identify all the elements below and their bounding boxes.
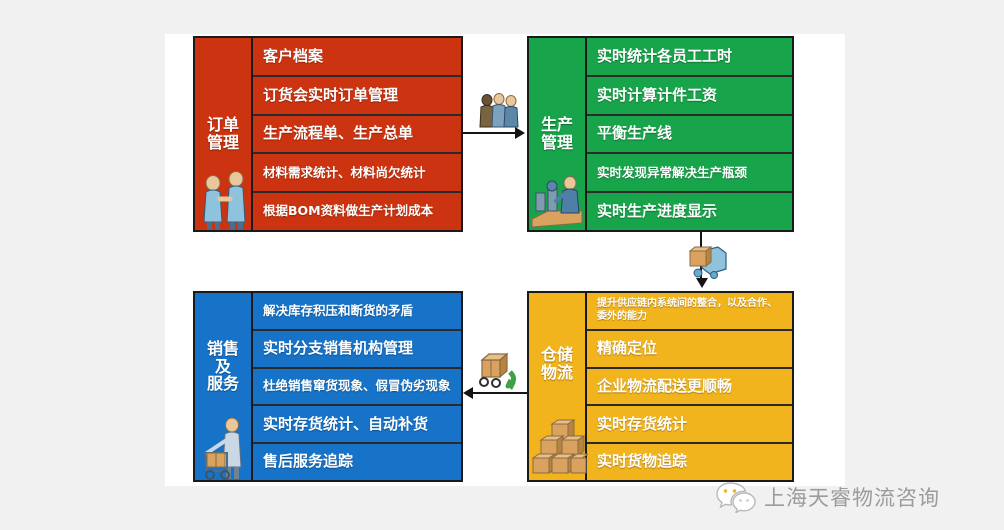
module-row[interactable]: 杜绝销售窜货现象、假冒伪劣现象 bbox=[253, 369, 461, 407]
module-row-text: 材料需求统计、材料尚欠统计 bbox=[263, 166, 426, 180]
module-row[interactable]: 平衡生产线 bbox=[587, 116, 792, 155]
module-row[interactable]: 实时存货统计、自动补货 bbox=[253, 406, 461, 444]
package-recycle-icon bbox=[472, 352, 520, 392]
diagram-canvas: 订单管理 客户档案 订货会实时订单管理 生产流程单、生产总单 材料需求统计、材料… bbox=[0, 0, 1004, 530]
module-row[interactable]: 根据BOM资料做生产计划成本 bbox=[253, 193, 461, 230]
connector-line bbox=[463, 132, 517, 134]
module-label-sales: 销售及服务 bbox=[195, 293, 253, 480]
group-of-people-icon bbox=[477, 92, 525, 130]
watermark-text: 上海天睿物流咨询 bbox=[764, 482, 940, 512]
module-row-text: 实时货物追踪 bbox=[597, 453, 687, 470]
arrow-down-icon bbox=[696, 278, 708, 288]
module-row[interactable]: 客户档案 bbox=[253, 38, 461, 77]
module-row[interactable]: 实时生产进度显示 bbox=[587, 193, 792, 230]
module-row-text: 提升供应链内系统间的整合，以及合作、委外的能力 bbox=[597, 298, 784, 323]
module-row[interactable]: 实时计算计件工资 bbox=[587, 77, 792, 116]
module-label-text-sales: 销售及服务 bbox=[207, 340, 239, 394]
module-warehouse-logistics[interactable]: 仓储物流 bbox=[527, 291, 794, 482]
module-label-production: 生产管理 bbox=[529, 38, 587, 230]
module-rows-production: 实时统计各员工工时 实时计算计件工资 平衡生产线 实时发现异常解决生产瓶颈 实时… bbox=[587, 38, 792, 230]
module-label-text-production: 生产管理 bbox=[541, 116, 573, 152]
module-row[interactable]: 售后服务追踪 bbox=[253, 444, 461, 480]
module-row-text: 实时存货统计、自动补货 bbox=[263, 416, 428, 433]
module-label-text-order: 订单管理 bbox=[207, 116, 239, 152]
module-row[interactable]: 实时分支销售机构管理 bbox=[253, 331, 461, 369]
module-row[interactable]: 实时发现异常解决生产瓶颈 bbox=[587, 154, 792, 193]
module-rows-warehouse: 提升供应链内系统间的整合，以及合作、委外的能力 精确定位 企业物流配送更顺畅 实… bbox=[587, 293, 792, 480]
package-conveyor-icon bbox=[684, 243, 728, 279]
module-row-text: 实时计算计件工资 bbox=[597, 87, 717, 104]
module-row-text: 平衡生产线 bbox=[597, 125, 672, 142]
module-label-text-warehouse: 仓储物流 bbox=[541, 346, 573, 382]
module-row-text: 杜绝销售窜货现象、假冒伪劣现象 bbox=[263, 379, 451, 393]
module-row[interactable]: 实时存货统计 bbox=[587, 406, 792, 444]
handshake-people-icon bbox=[196, 166, 252, 232]
person-pushing-cart-icon bbox=[197, 413, 253, 481]
module-row-text: 实时发现异常解决生产瓶颈 bbox=[597, 166, 747, 180]
module-production-management[interactable]: 生产管理 实时统计各员工工时 实时计算计件工资 平衡生产线 实时发现异常解决生产… bbox=[527, 36, 794, 232]
module-row[interactable]: 生产流程单、生产总单 bbox=[253, 116, 461, 155]
module-row-text: 实时生产进度显示 bbox=[597, 203, 717, 220]
worker-machine-icon bbox=[530, 171, 586, 231]
module-row-text: 企业物流配送更顺畅 bbox=[597, 378, 732, 395]
module-label-warehouse: 仓储物流 bbox=[529, 293, 587, 480]
module-row[interactable]: 实时统计各员工工时 bbox=[587, 38, 792, 77]
connector-line bbox=[471, 392, 527, 394]
module-row[interactable]: 精确定位 bbox=[587, 331, 792, 369]
module-row[interactable]: 实时货物追踪 bbox=[587, 444, 792, 480]
module-row-text: 精确定位 bbox=[597, 340, 657, 357]
module-label-order: 订单管理 bbox=[195, 38, 253, 230]
watermark: 上海天睿物流咨询 bbox=[716, 481, 940, 513]
module-row[interactable]: 解决库存积压和断货的矛盾 bbox=[253, 293, 461, 331]
module-row[interactable]: 材料需求统计、材料尚欠统计 bbox=[253, 154, 461, 193]
module-row[interactable]: 订货会实时订单管理 bbox=[253, 77, 461, 116]
module-rows-order: 客户档案 订货会实时订单管理 生产流程单、生产总单 材料需求统计、材料尚欠统计 … bbox=[253, 38, 461, 230]
module-row[interactable]: 企业物流配送更顺畅 bbox=[587, 369, 792, 407]
module-row-text: 根据BOM资料做生产计划成本 bbox=[263, 204, 433, 218]
module-row-text: 实时统计各员工工时 bbox=[597, 48, 732, 65]
module-row-text: 解决库存积压和断货的矛盾 bbox=[263, 304, 413, 318]
wechat-icon bbox=[716, 481, 756, 513]
module-order-management[interactable]: 订单管理 客户档案 订货会实时订单管理 生产流程单、生产总单 材料需求统计、材料… bbox=[193, 36, 463, 232]
module-row-text: 订货会实时订单管理 bbox=[263, 87, 398, 104]
module-sales-and-service[interactable]: 销售及服务 解决库存积压和断货的矛盾 实时分支销售机构管理 杜绝销售窜货现象、假… bbox=[193, 291, 463, 482]
module-rows-sales: 解决库存积压和断货的矛盾 实时分支销售机构管理 杜绝销售窜货现象、假冒伪劣现象 … bbox=[253, 293, 461, 480]
module-row[interactable]: 提升供应链内系统间的整合，以及合作、委外的能力 bbox=[587, 293, 792, 331]
module-row-text: 生产流程单、生产总单 bbox=[263, 125, 413, 142]
module-row-text: 客户档案 bbox=[263, 48, 323, 65]
module-row-text: 实时存货统计 bbox=[597, 416, 687, 433]
module-row-text: 售后服务追踪 bbox=[263, 453, 353, 470]
module-row-text: 实时分支销售机构管理 bbox=[263, 340, 413, 357]
stacked-boxes-icon bbox=[532, 418, 588, 480]
